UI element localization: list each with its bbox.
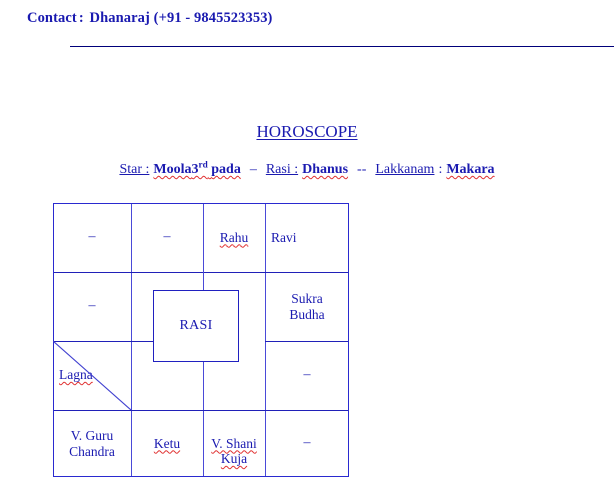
chart-cell-r4c2-ketu[interactable]: Ketu xyxy=(131,410,203,477)
chart-cell-r2c1-text: – xyxy=(89,298,96,315)
chart-cell-r4c1-guru-chandra[interactable]: V. Guru Chandra xyxy=(53,410,131,477)
chart-cell-r2c1[interactable]: – xyxy=(53,272,131,341)
contact-phone: (+91 - 9845523353) xyxy=(154,10,273,26)
chart-cell-r4c2-text: Ketu xyxy=(154,436,180,452)
chart-cell-r1c2-text: – xyxy=(164,229,171,246)
header-divider xyxy=(70,46,614,47)
rasi-value: Dhanus xyxy=(302,162,348,177)
chart-cell-r2c4-sukra-budha[interactable]: Sukra Budha xyxy=(265,272,349,341)
contact-line: Contact: Dhanaraj (+91 - 9845523353) xyxy=(27,10,272,27)
chart-cell-r4c1-line1: V. Guru xyxy=(69,428,115,444)
chart-cell-r1c4-ravi[interactable]: Ravi xyxy=(265,203,349,272)
chart-cell-r1c2[interactable]: – xyxy=(131,203,203,272)
lakkanam-label: Lakkanam xyxy=(375,162,434,177)
lakkanam-separator: : xyxy=(438,162,442,177)
chart-cell-r4c1-line2: Chandra xyxy=(69,444,115,460)
chart-cell-r1c1-text: – xyxy=(89,229,96,246)
chart-cell-r3c4[interactable]: – xyxy=(265,341,349,410)
chart-cell-r2c4-line2: Budha xyxy=(289,307,324,323)
separator-dash-2: -- xyxy=(348,162,375,178)
lakkanam-value: Makara xyxy=(446,162,494,177)
chart-cell-r4c4[interactable]: – xyxy=(265,410,349,477)
rasi-center-box[interactable]: RASI xyxy=(153,290,239,362)
rasi-chart: – – Rahu Ravi – Sukra Budha Lagna – V. G… xyxy=(53,203,349,477)
chart-cell-r4c4-text: – xyxy=(304,435,311,452)
chart-cell-r4c3-line1: V. Shani xyxy=(211,436,257,452)
chart-cell-r1c1[interactable]: – xyxy=(53,203,131,272)
contact-label: Contact xyxy=(27,10,77,26)
chart-cell-r3c1-lagna[interactable]: Lagna xyxy=(53,341,131,410)
contact-name: Dhanaraj xyxy=(90,10,150,26)
chart-cell-r2c4-line1: Sukra xyxy=(289,291,324,307)
rasi-center-label: RASI xyxy=(179,318,212,334)
star-label: Star : xyxy=(119,162,149,177)
astro-summary-line: Star :Moola3rd pada–Rasi :Dhanus--Lakkan… xyxy=(0,162,614,178)
contact-separator: : xyxy=(77,10,86,26)
chart-cell-r3c4-text: – xyxy=(304,367,311,384)
page-title: HOROSCOPE xyxy=(0,122,614,142)
rasi-label: Rasi : xyxy=(266,162,298,177)
chart-cell-r4c3-line2: Kuja xyxy=(203,451,265,467)
separator-dash-1: – xyxy=(241,162,266,178)
lagna-label: Lagna xyxy=(59,367,93,383)
chart-cell-r1c4-text: Ravi xyxy=(271,230,297,246)
chart-cell-r1c3-rahu[interactable]: Rahu xyxy=(203,203,265,272)
chart-cell-r1c3-text: Rahu xyxy=(220,230,249,246)
star-value: Moola3rd pada xyxy=(153,162,240,177)
